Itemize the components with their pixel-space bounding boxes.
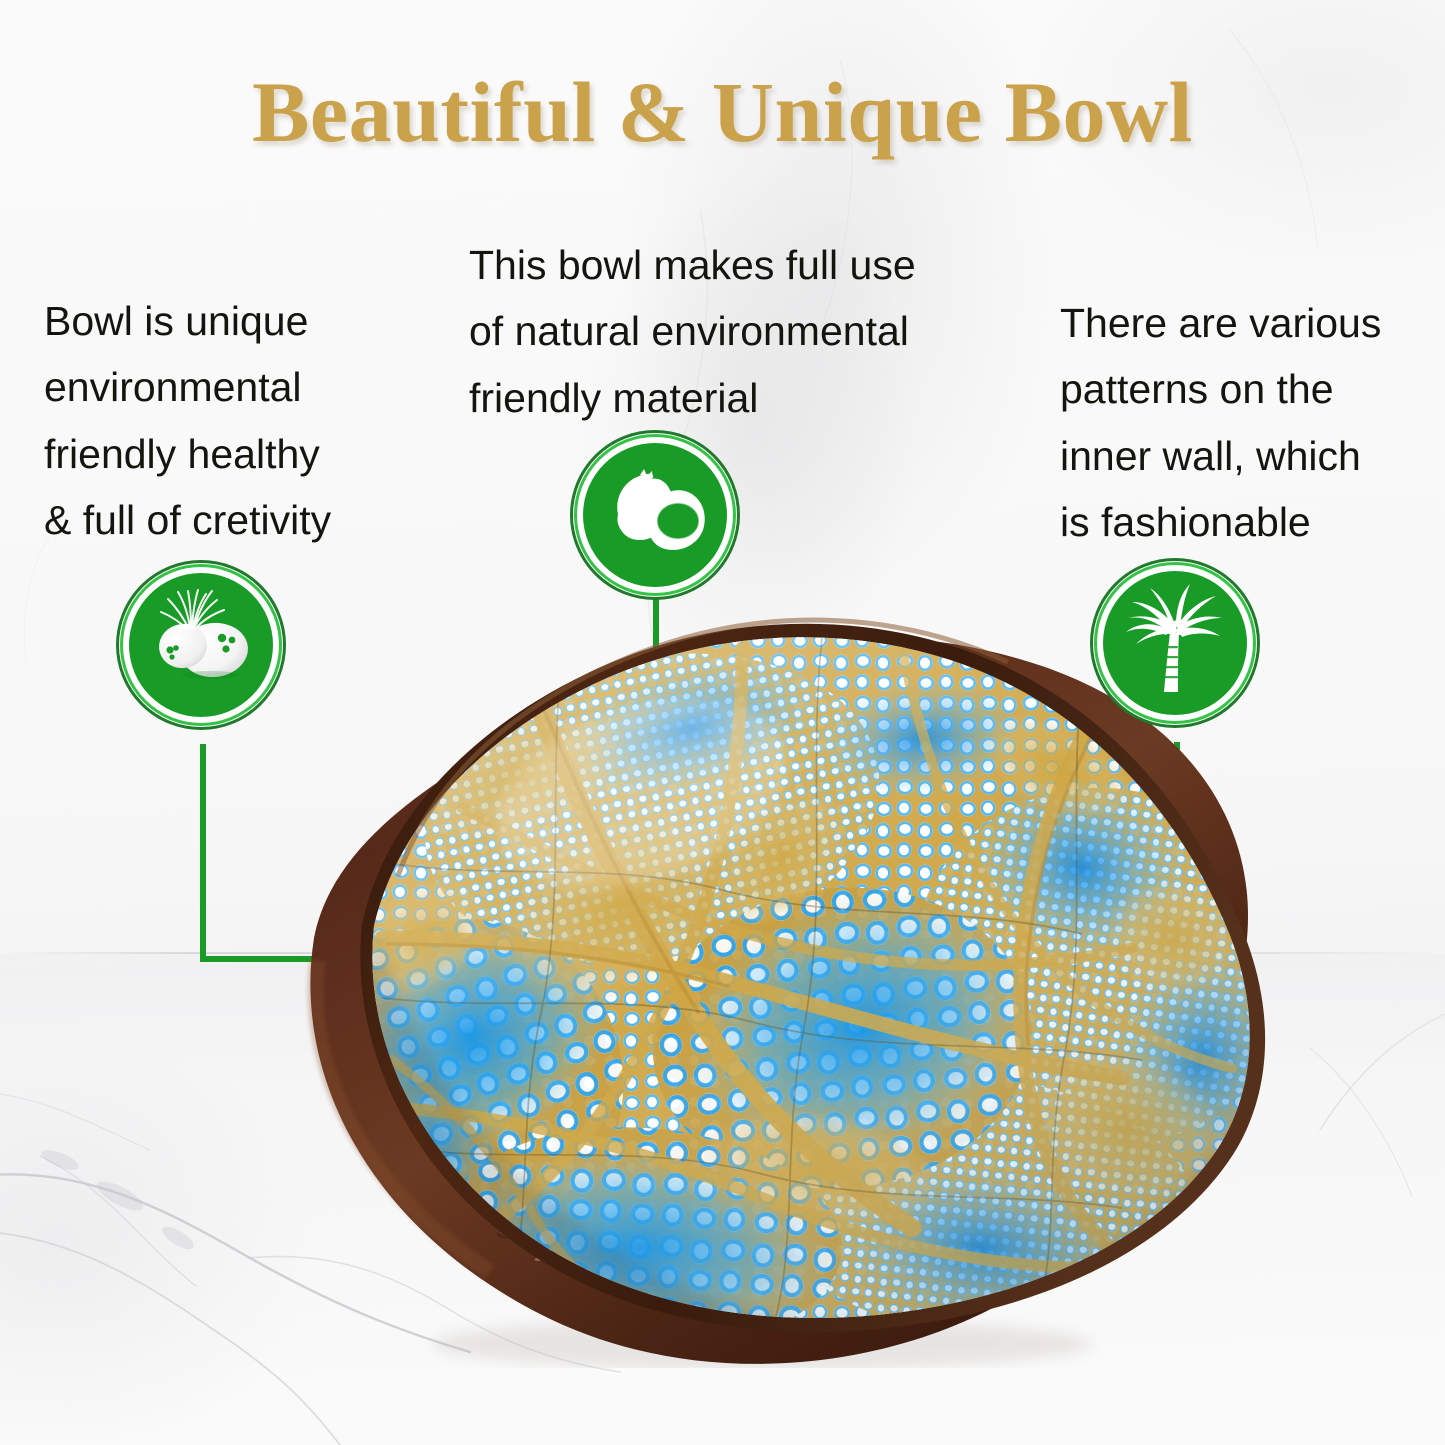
- coconut-halved-icon: [592, 452, 718, 578]
- palm-tree-icon: [1112, 580, 1238, 706]
- callout-icon-left[interactable]: [116, 560, 286, 730]
- callout-text-center: This bowl makes full use of natural envi…: [469, 232, 969, 431]
- page-title: Beautiful & Unique Bowl: [0, 62, 1445, 162]
- coconut-bowl-image: [222, 608, 1282, 1368]
- coconut-sprout-icon: [138, 582, 264, 708]
- callout-icon-right[interactable]: [1090, 558, 1260, 728]
- badge-disc: [1103, 571, 1247, 715]
- infographic-canvas: Beautiful & Unique Bowl: [0, 0, 1445, 1445]
- connector-left-vertical: [200, 744, 206, 962]
- callout-icon-center[interactable]: [570, 430, 740, 600]
- callout-text-right: There are various patterns on the inner …: [1060, 290, 1420, 556]
- badge-disc: [583, 443, 727, 587]
- badge-disc: [129, 573, 273, 717]
- callout-text-left: Bowl is unique environmental friendly he…: [44, 288, 444, 554]
